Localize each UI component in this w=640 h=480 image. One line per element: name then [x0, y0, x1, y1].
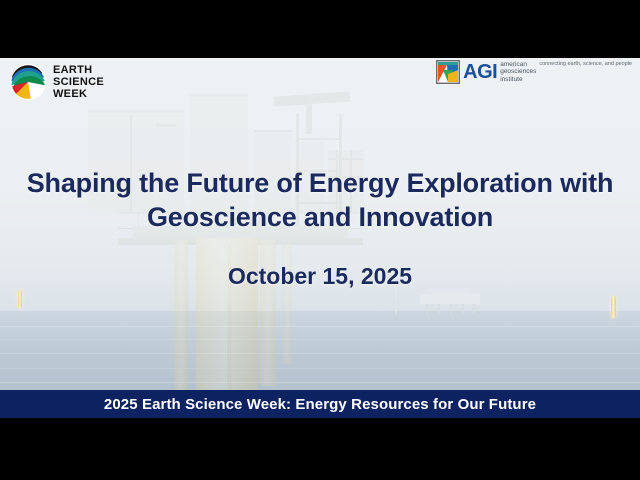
agi-logo[interactable]: AGI american geosciences institute conne…	[436, 60, 632, 84]
agi-subtitle-line2: geosciences	[500, 68, 536, 76]
earth-science-week-logo[interactable]: EARTH SCIENCE WEEK	[10, 60, 122, 104]
agi-acronym-row: AGI american geosciences institute	[436, 60, 536, 84]
letterbox-bottom	[0, 418, 640, 480]
slide-title: Shaping the Future of Energy Exploration…	[0, 166, 640, 234]
agi-square-icon	[436, 60, 460, 84]
esw-line-1: EARTH	[53, 64, 104, 76]
bottom-banner: 2025 Earth Science Week: Energy Resource…	[0, 390, 640, 418]
agi-acronym: AGI	[463, 62, 497, 82]
slide-title-line1: Shaping the Future of Energy Exploration…	[27, 168, 614, 198]
slide-date: October 15, 2025	[0, 263, 640, 290]
agi-subtitle-line3: institute	[500, 76, 536, 84]
agi-tagline: connecting earth, science, and people	[539, 61, 632, 68]
slide-title-line2: Geoscience and Innovation	[147, 202, 493, 232]
earth-science-week-wordmark: EARTH SCIENCE WEEK	[53, 64, 104, 100]
esw-line-3: WEEK	[53, 88, 104, 100]
presentation-slide: BCW Shaping the Future of Energy Explora…	[0, 0, 640, 480]
agi-subtitle: american geosciences institute	[500, 61, 536, 84]
letterbox-top	[0, 0, 640, 58]
earth-science-week-globe-icon	[10, 64, 46, 100]
agi-subtitle-line1: american	[500, 61, 536, 69]
esw-line-2: SCIENCE	[53, 76, 104, 88]
text-overlay: Shaping the Future of Energy Exploration…	[0, 58, 640, 418]
bottom-banner-text: 2025 Earth Science Week: Energy Resource…	[104, 396, 536, 413]
